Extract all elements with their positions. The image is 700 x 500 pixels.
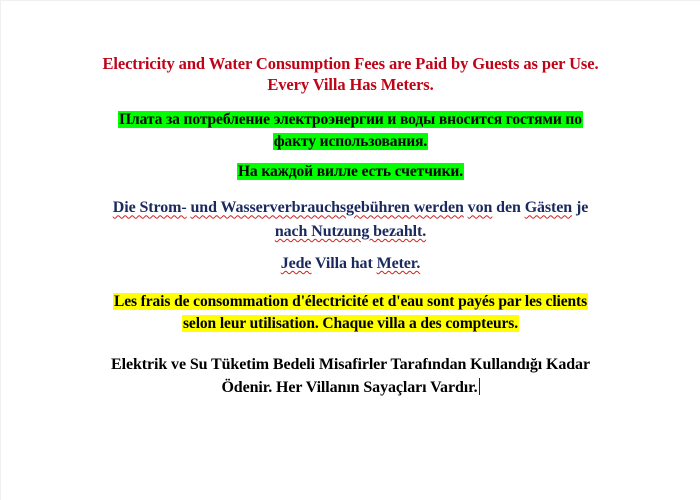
german-line-2: nach Nutzung bezahlt. <box>61 222 640 243</box>
french-line-1: Les frais de consommation d'électricité … <box>61 292 640 312</box>
russian-line-1: Плата за потребление электроэнергии и во… <box>61 110 640 130</box>
german-misspelled-run: von <box>468 199 493 216</box>
english-line-1: Electricity and Water Consumption Fees a… <box>61 53 640 74</box>
turkish-line-2-text: Ödenir. Her Villanın Sayaçları Vardır. <box>221 379 477 396</box>
german-misspelled-run: Meter. <box>377 255 421 272</box>
german-misspelled-run: und Wasserverbrauchsgebühren werden <box>190 199 463 216</box>
russian-line-2: факту использования. <box>61 132 640 152</box>
german-plain-run: den <box>492 199 524 216</box>
paragraph-russian[interactable]: Плата за потребление электроэнергии и во… <box>61 110 640 182</box>
document-body[interactable]: Electricity and Water Consumption Fees a… <box>1 1 700 399</box>
english-line-2: Every Villa Has Meters. <box>61 74 640 95</box>
german-line-1: Die Strom- und Wasserverbrauchsgebühren … <box>61 198 640 219</box>
paragraph-german[interactable]: Die Strom- und Wasserverbrauchsgebühren … <box>61 198 640 274</box>
text-cursor-caret <box>479 378 480 395</box>
german-plain-run: je <box>572 199 588 216</box>
paragraph-english[interactable]: Electricity and Water Consumption Fees a… <box>61 53 640 96</box>
paragraph-turkish[interactable]: Elektrik ve Su Tüketim Bedeli Misafirler… <box>61 355 640 399</box>
turkish-line-2: Ödenir. Her Villanın Sayaçları Vardır. <box>61 378 640 399</box>
german-misspelled-run: Gästen <box>525 199 572 216</box>
document-page: Electricity and Water Consumption Fees a… <box>0 0 700 500</box>
paragraph-french[interactable]: Les frais de consommation d'électricité … <box>61 292 640 334</box>
turkish-line-1: Elektrik ve Su Tüketim Bedeli Misafirler… <box>61 355 640 376</box>
german-line-3: Jede Villa hat Meter. <box>61 254 640 275</box>
german-misspelled-run: Die Strom- <box>113 199 187 216</box>
russian-highlight-2: факту использования. <box>273 133 428 150</box>
russian-highlight-3: На каждой вилле есть счетчики. <box>237 163 464 180</box>
german-misspelled-run: nach Nutzung bezahlt. <box>275 223 426 240</box>
french-highlight-1: Les frais de consommation d'électricité … <box>113 293 588 310</box>
russian-highlight-1: Плата за потребление электроэнергии и во… <box>118 111 583 128</box>
french-highlight-2: selon leur utilisation. Chaque villa a d… <box>182 315 519 332</box>
french-line-2: selon leur utilisation. Chaque villa a d… <box>61 314 640 334</box>
german-plain-run: Villa hat <box>311 255 376 272</box>
russian-line-3: На каждой вилле есть счетчики. <box>61 162 640 182</box>
german-misspelled-run: Jede <box>281 255 312 272</box>
